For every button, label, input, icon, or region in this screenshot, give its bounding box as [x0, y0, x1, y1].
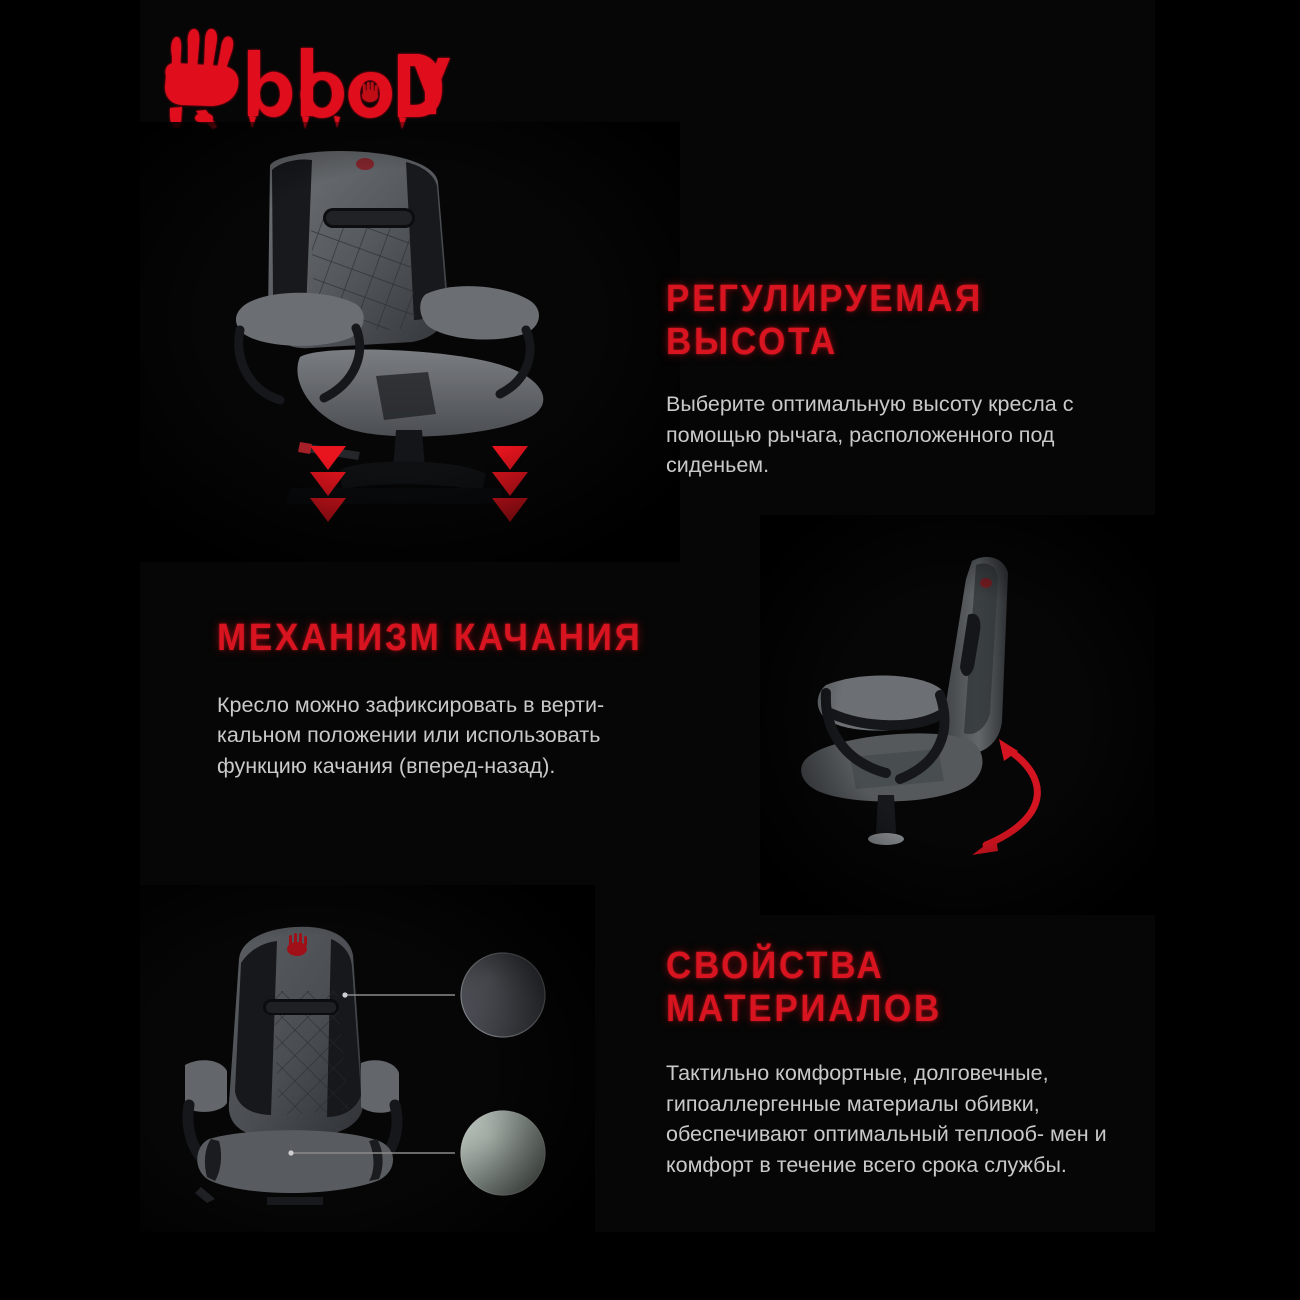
section-adjustable-height-image: [160, 152, 640, 522]
section-material-properties-text: СВОЙСТВА МАТЕРИАЛОВ Тактильно комфортные…: [666, 945, 1136, 1180]
section-rocking-mechanism-image: [790, 545, 1120, 875]
heading-material-properties: СВОЙСТВА МАТЕРИАЛОВ: [666, 945, 1098, 1030]
body-adjustable-height: Выберите оптимальную высоту кресла с пом…: [666, 389, 1136, 481]
page-root: РЕГУЛИРУЕМАЯ ВЫСОТА Выберите оптимальную…: [0, 0, 1300, 1300]
heading-rocking-mechanism: МЕХАНИЗМ КАЧАНИЯ: [217, 617, 649, 660]
body-material-properties: Тактильно комфортные, долговечные, гипоа…: [666, 1058, 1136, 1180]
section-adjustable-height-text: РЕГУЛИРУЕМАЯ ВЫСОТА Выберите оптимальную…: [666, 278, 1136, 481]
bloody-brand-logo: [148, 28, 448, 138]
section-material-properties-image: [155, 915, 555, 1215]
section-rocking-mechanism-text: МЕХАНИЗМ КАЧАНИЯ Кресло можно зафиксиров…: [217, 617, 687, 781]
bloody-handprint-icon: [165, 29, 238, 129]
bloody-wordmark: [248, 48, 450, 129]
heading-adjustable-height: РЕГУЛИРУЕМАЯ ВЫСОТА: [666, 278, 1098, 363]
body-rocking-mechanism: Кресло можно зафиксировать в верти- каль…: [217, 690, 687, 782]
